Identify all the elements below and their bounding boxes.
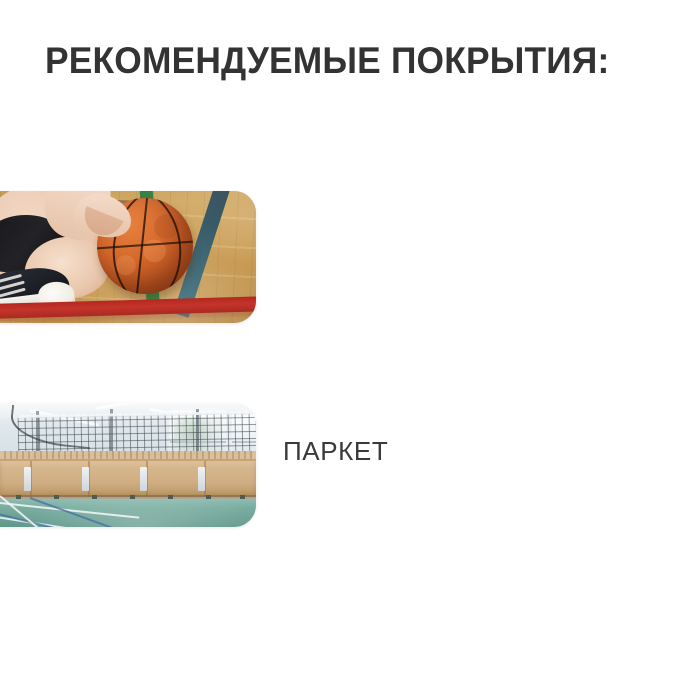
panel-strap — [198, 467, 205, 491]
panel-strap — [24, 467, 31, 491]
pvc-photo-scene — [0, 403, 256, 527]
parquet-photo — [0, 191, 256, 323]
pvc-photo — [0, 403, 256, 527]
covering-label-parquet: ПАРКЕТ — [283, 433, 388, 470]
pvc-linoleum-floor — [0, 499, 256, 527]
panel-strap — [140, 467, 147, 491]
slide-root: РЕКОМЕНДУЕМЫЕ ПОКРЫТИЯ: — [0, 0, 700, 700]
floor-marking-white — [0, 501, 139, 519]
panel-strap — [82, 467, 89, 491]
page-title: РЕКОМЕНДУЕМЫЕ ПОКРЫТИЯ: — [45, 39, 609, 83]
parquet-photo-scene — [0, 191, 256, 323]
gym-wooden-panels — [0, 459, 256, 497]
